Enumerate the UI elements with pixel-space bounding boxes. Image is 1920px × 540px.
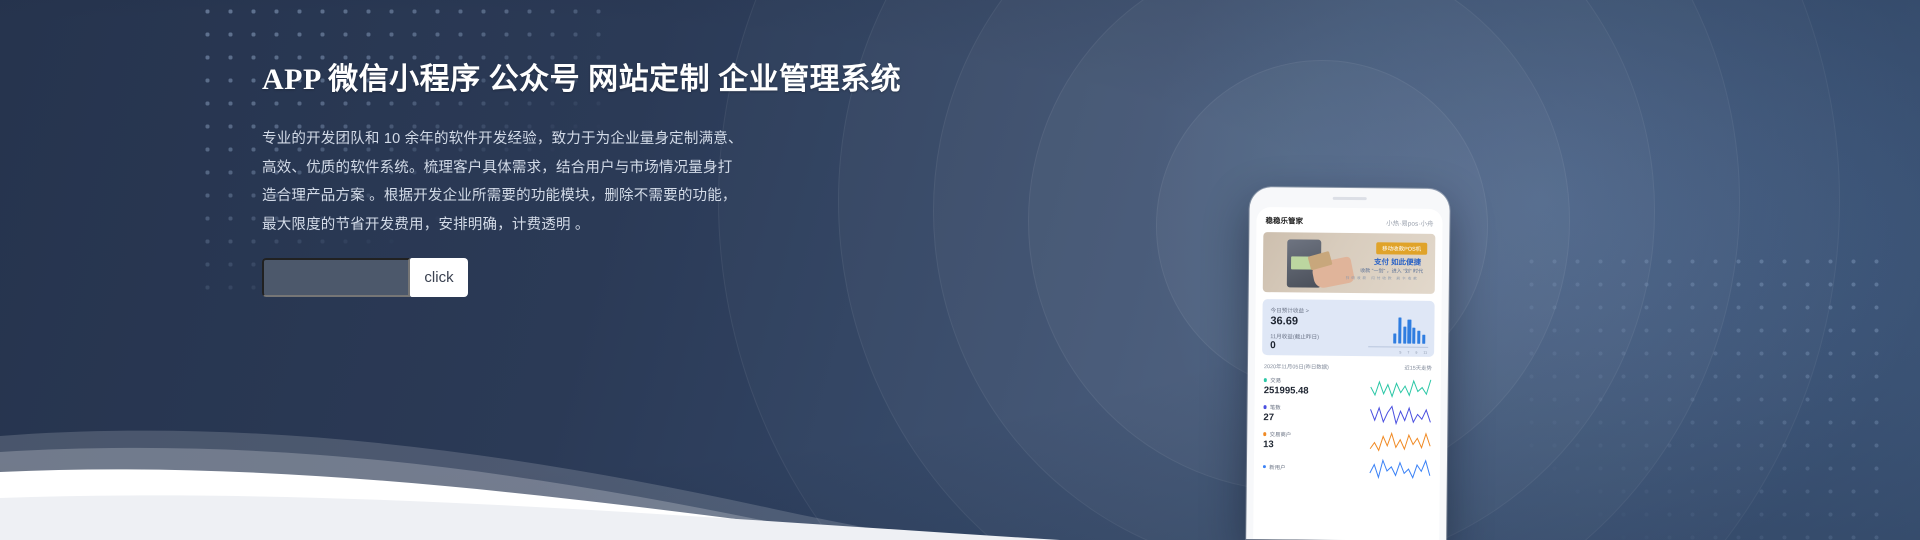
hero-banner: 稳稳乐管家 小热·易pos·小舟 移动收款POS机 支付 如此便捷 收款 "一划… bbox=[0, 0, 1920, 540]
hero-description: 专业的开发团队和 10 余年的软件开发经验，致力于为企业量身定制满意、高效、优质… bbox=[262, 125, 922, 239]
hero-description-line-3: 造合理产品方案 。根据开发企业所需要的功能模块，删除不需要的功能， bbox=[262, 182, 922, 211]
hero-copy: APP 微信小程序 公众号 网站定制 企业管理系统 专业的开发团队和 10 余年… bbox=[262, 58, 922, 239]
app-name: 稳稳乐管家 bbox=[1265, 215, 1303, 226]
app-header: 稳稳乐管家 小热·易pos·小舟 bbox=[1256, 207, 1442, 234]
app-subtitle: 小热·易pos·小舟 bbox=[1386, 217, 1433, 227]
hero-description-line-4: 最大限度的节省开发费用，安排明确，计费透明 。 bbox=[262, 211, 922, 240]
cta-input[interactable] bbox=[262, 258, 410, 297]
phone-speaker-icon bbox=[1333, 197, 1367, 200]
hero-description-line-2: 高效、优质的软件系统。梳理客户具体需求，结合用户与市场情况量身打 bbox=[262, 154, 922, 183]
hero-description-line-1: 专业的开发团队和 10 余年的软件开发经验，致力于为企业量身定制满意、 bbox=[262, 125, 922, 154]
click-button[interactable]: click bbox=[410, 258, 468, 297]
page-title: APP 微信小程序 公众号 网站定制 企业管理系统 bbox=[262, 58, 922, 102]
cta-group: click bbox=[262, 258, 468, 297]
